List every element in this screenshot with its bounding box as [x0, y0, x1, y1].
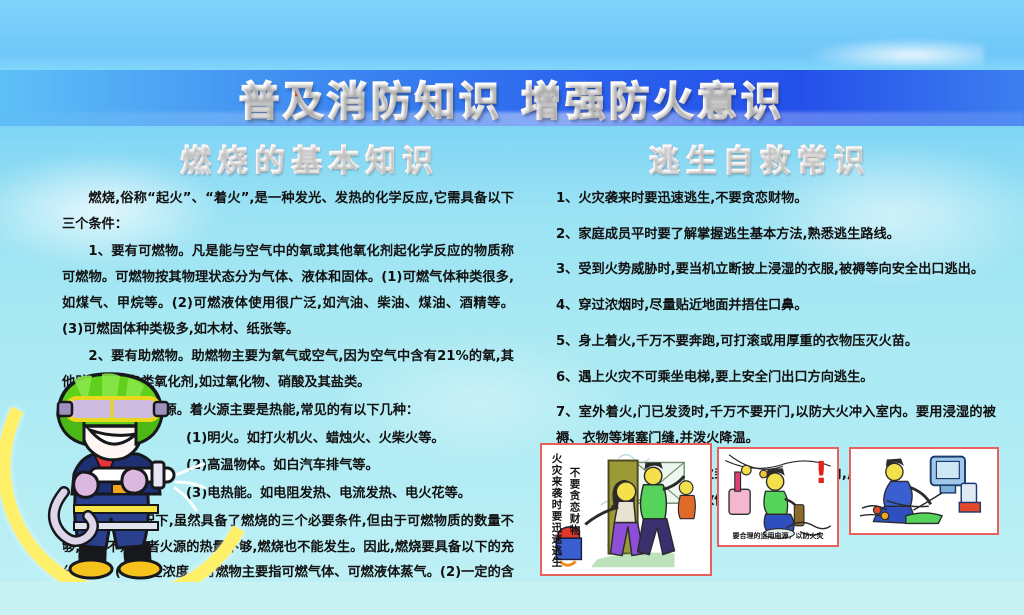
illustration-overloaded-outlet [849, 447, 999, 535]
fire-safety-poster: 普及消防知识 增强防火意识 燃烧的基本知识 逃生自救常识 燃烧,俗称“起火”、“… [0, 0, 1024, 615]
footer-watermark-bar: 昵享网 www.nipic.cn ID:11987211 NO:20130617… [0, 582, 1024, 615]
illustration-1-vertical-title: 火灾来袭时要迅速逃生 [550, 453, 562, 568]
illustration-2-caption: 要合理的运用电源，以防火灾 [719, 531, 837, 541]
escape-rule-2: 2、家庭成员平时要了解掌握逃生基本方法,熟悉逃生路线。 [556, 222, 996, 248]
sky-cloud-decoration [804, 38, 984, 66]
escape-rule-5: 5、身上着火,千万不要奔跑,可打滚或用厚重的衣物压灭火苗。 [556, 329, 996, 355]
illustration-use-power-safely: ! 要合理的运用电源，以防火灾 [717, 447, 839, 547]
main-title: 普及消防知识 增强防火意识 [0, 69, 1024, 127]
paragraph-fuel: 1、要有可燃物。凡是能与空气中的氧或其他氧化剂起化学反应的物质称可燃物。可燃物按… [62, 239, 514, 342]
paragraph-intro: 燃烧,俗称“起火”、“着火”,是一种发光、发热的化学反应,它需具备以下三个条件： [62, 186, 514, 237]
escape-rule-3: 3、受到火势威胁时,要当机立断披上浸湿的衣服,被褥等向安全出口逃出。 [556, 257, 996, 283]
illustration-3-artwork [851, 449, 997, 533]
firefighter-mascot-icon [28, 372, 208, 584]
section-heading-combustion: 燃烧的基本知识 [90, 138, 530, 178]
exclamation-mark-icon: ! [814, 459, 828, 489]
escape-rule-1: 1、火灾袭来时要迅速逃生,不要贪恋财物。 [556, 186, 996, 212]
illustration-1-vertical-sub: 不要贪恋财物 [568, 467, 580, 536]
illustration-escape-quickly: 火灾来袭时要迅速逃生 不要贪恋财物 [540, 443, 712, 576]
escape-rule-4: 4、穿过浓烟时,尽量贴近地面并捂住口鼻。 [556, 293, 996, 319]
section-heading-escape: 逃生自救常识 [540, 138, 980, 178]
escape-rule-6: 6、遇上火灾不可乘坐电梯,要上安全门出口方向逃生。 [556, 365, 996, 391]
